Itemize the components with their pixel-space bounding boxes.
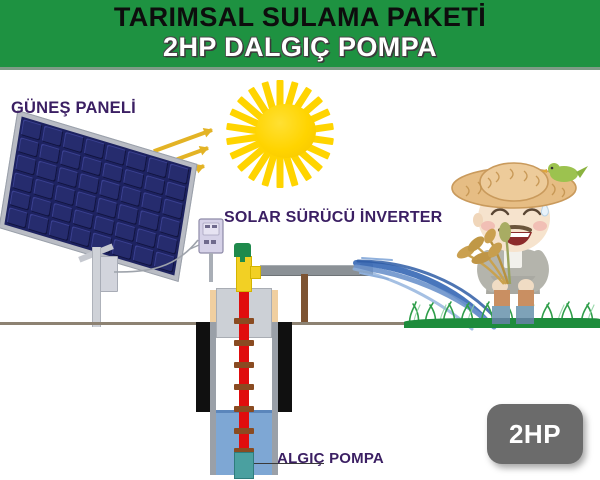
borehole-well <box>196 260 292 475</box>
solar-cell <box>49 220 71 241</box>
riser-pipe-red <box>239 290 249 304</box>
page-subtitle: 2HP DALGIÇ POMPA <box>0 32 600 63</box>
valve-handle <box>234 243 251 257</box>
page-title: TARIMSAL SULAMA PAKETİ <box>0 2 600 33</box>
pipe-coupling <box>234 384 254 390</box>
sun-core <box>256 104 316 158</box>
pipe-coupling <box>234 318 254 324</box>
label-inverter: SOLAR SÜRÜCÜ İNVERTER <box>224 209 442 227</box>
farmer-character <box>448 162 588 326</box>
poster-canvas: TARIMSAL SULAMA PAKETİ 2HP DALGIÇ POMPA … <box>0 0 600 480</box>
pipe-coupling <box>234 362 254 368</box>
pipe-coupling <box>234 428 254 434</box>
sun-icon <box>218 76 342 192</box>
pipe-support-post <box>301 274 308 322</box>
valve-outlet-nut <box>250 266 261 279</box>
pump-leader-line <box>254 463 324 464</box>
power-badge-label: 2HP <box>487 404 583 464</box>
solar-cell <box>70 226 92 247</box>
solar-cell <box>28 214 50 235</box>
power-badge: 2HP <box>487 404 583 464</box>
pipe-coupling <box>234 340 254 346</box>
header-divider <box>0 67 600 70</box>
submersible-pump <box>234 452 254 479</box>
solar-cell <box>7 207 29 228</box>
label-solar-panel: GÜNEŞ PANELİ <box>11 99 136 118</box>
pipe-coupling <box>234 406 254 412</box>
